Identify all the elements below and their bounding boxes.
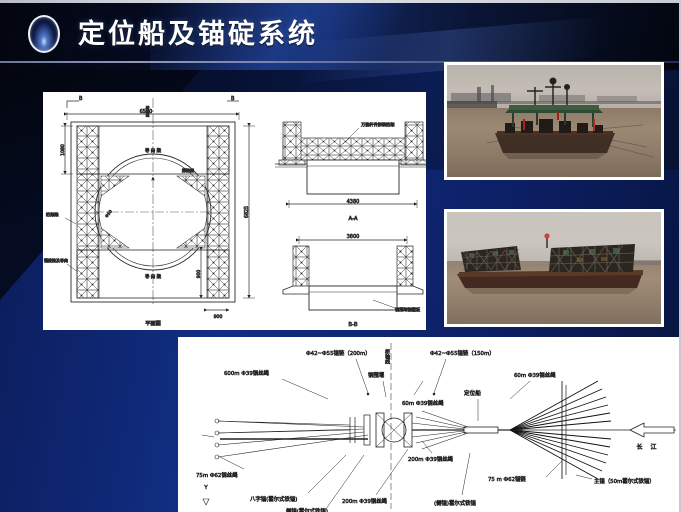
plan-drawing-figure: B B 桥轴线 6500	[43, 92, 426, 330]
label-chain-75m: 75 m Ф62锚链	[488, 475, 526, 483]
slide-canvas: 定位船及锚碇系统	[0, 0, 681, 512]
plan-caption: 平面图	[145, 320, 161, 327]
plan-section-mark-left: B	[79, 96, 83, 102]
label-side-anchor-right: (侧锚)霍尔式铁锚	[434, 499, 477, 507]
page-title: 定位船及锚碇系统	[78, 21, 318, 48]
label-position-barge: 定位船	[464, 389, 481, 397]
photo-truss-barge	[444, 209, 664, 327]
dim-section-b: 3800	[347, 234, 360, 240]
label-truss: 桁架梁	[46, 211, 59, 218]
label-anchor-frame: 锚碇梁及导向	[44, 257, 68, 263]
top-edge-highlight	[0, 0, 681, 3]
dim-width-overall: 6500	[140, 109, 153, 115]
section-b-caption: B-B	[348, 322, 357, 328]
photo-positioning-barge	[444, 62, 664, 180]
label-section-a-truss: 万能杆件拼装桁架	[361, 121, 395, 128]
label-bridge-axis: 桥轴线	[384, 348, 390, 364]
oval-bullet-icon	[28, 15, 60, 53]
label-section-b-wall: 钢围堰钢壁板	[395, 306, 421, 313]
dim-bottom-bay: 900	[196, 270, 202, 279]
label-side-anchor-left: 侧锚(霍尔式铁锚)	[286, 507, 328, 512]
label-axis-mark: A	[152, 177, 155, 181]
photo1-content	[447, 65, 661, 177]
section-a-caption: A-A	[348, 216, 357, 222]
anchor-system-svg: 桥轴线	[178, 337, 681, 512]
dim-height-overall: 6825	[244, 206, 250, 218]
anchor-system-figure: 桥轴线	[178, 337, 681, 512]
label-brace: 撑梁架	[182, 167, 194, 173]
dim-section-a: 4380	[347, 199, 360, 205]
dim-circle-dia: Ф50	[104, 208, 113, 218]
label-wire-75m: 75m Ф62钢丝绳	[196, 471, 238, 479]
plan-drawing-svg: B B 桥轴线 6500	[43, 92, 426, 330]
dim-column-width: 900	[214, 314, 223, 320]
label-wire-200m-upper: 200m Ф39钢丝绳	[408, 455, 454, 463]
dim-top-bay: 1080	[60, 144, 66, 156]
label-splay-anchor: 八字锚(霍尔式铁锚)	[250, 495, 297, 503]
plan-section-mark-right: B	[231, 96, 235, 102]
label-north-y: Y	[203, 485, 208, 491]
label-river: 长 江	[637, 443, 660, 451]
label-chain-150m: Ф42~Ф55锚链（150m）	[430, 349, 495, 357]
label-guide-beam-top: 导 向 梁	[145, 147, 162, 154]
label-guide-beam-bottom: 导 向 梁	[145, 273, 162, 280]
label-wire-60m-right: 60m Ф39钢丝绳	[514, 371, 556, 379]
label-wire-60m-left: 60m Ф39钢丝绳	[402, 399, 444, 407]
label-steel-caisson: 钢围堰	[368, 371, 385, 379]
photo2-content	[447, 212, 661, 324]
label-wire-600m: 600m Ф39钢丝绳	[224, 369, 270, 377]
label-wire-200m-lower: 200m Ф39钢丝绳	[342, 497, 388, 505]
label-chain-200m: Ф42~Ф55锚链（200m）	[306, 349, 371, 357]
slide-title-row: 定位船及锚碇系统	[0, 8, 681, 60]
label-main-anchor: 主锚（50m霍尔式铁锚）	[594, 477, 655, 485]
